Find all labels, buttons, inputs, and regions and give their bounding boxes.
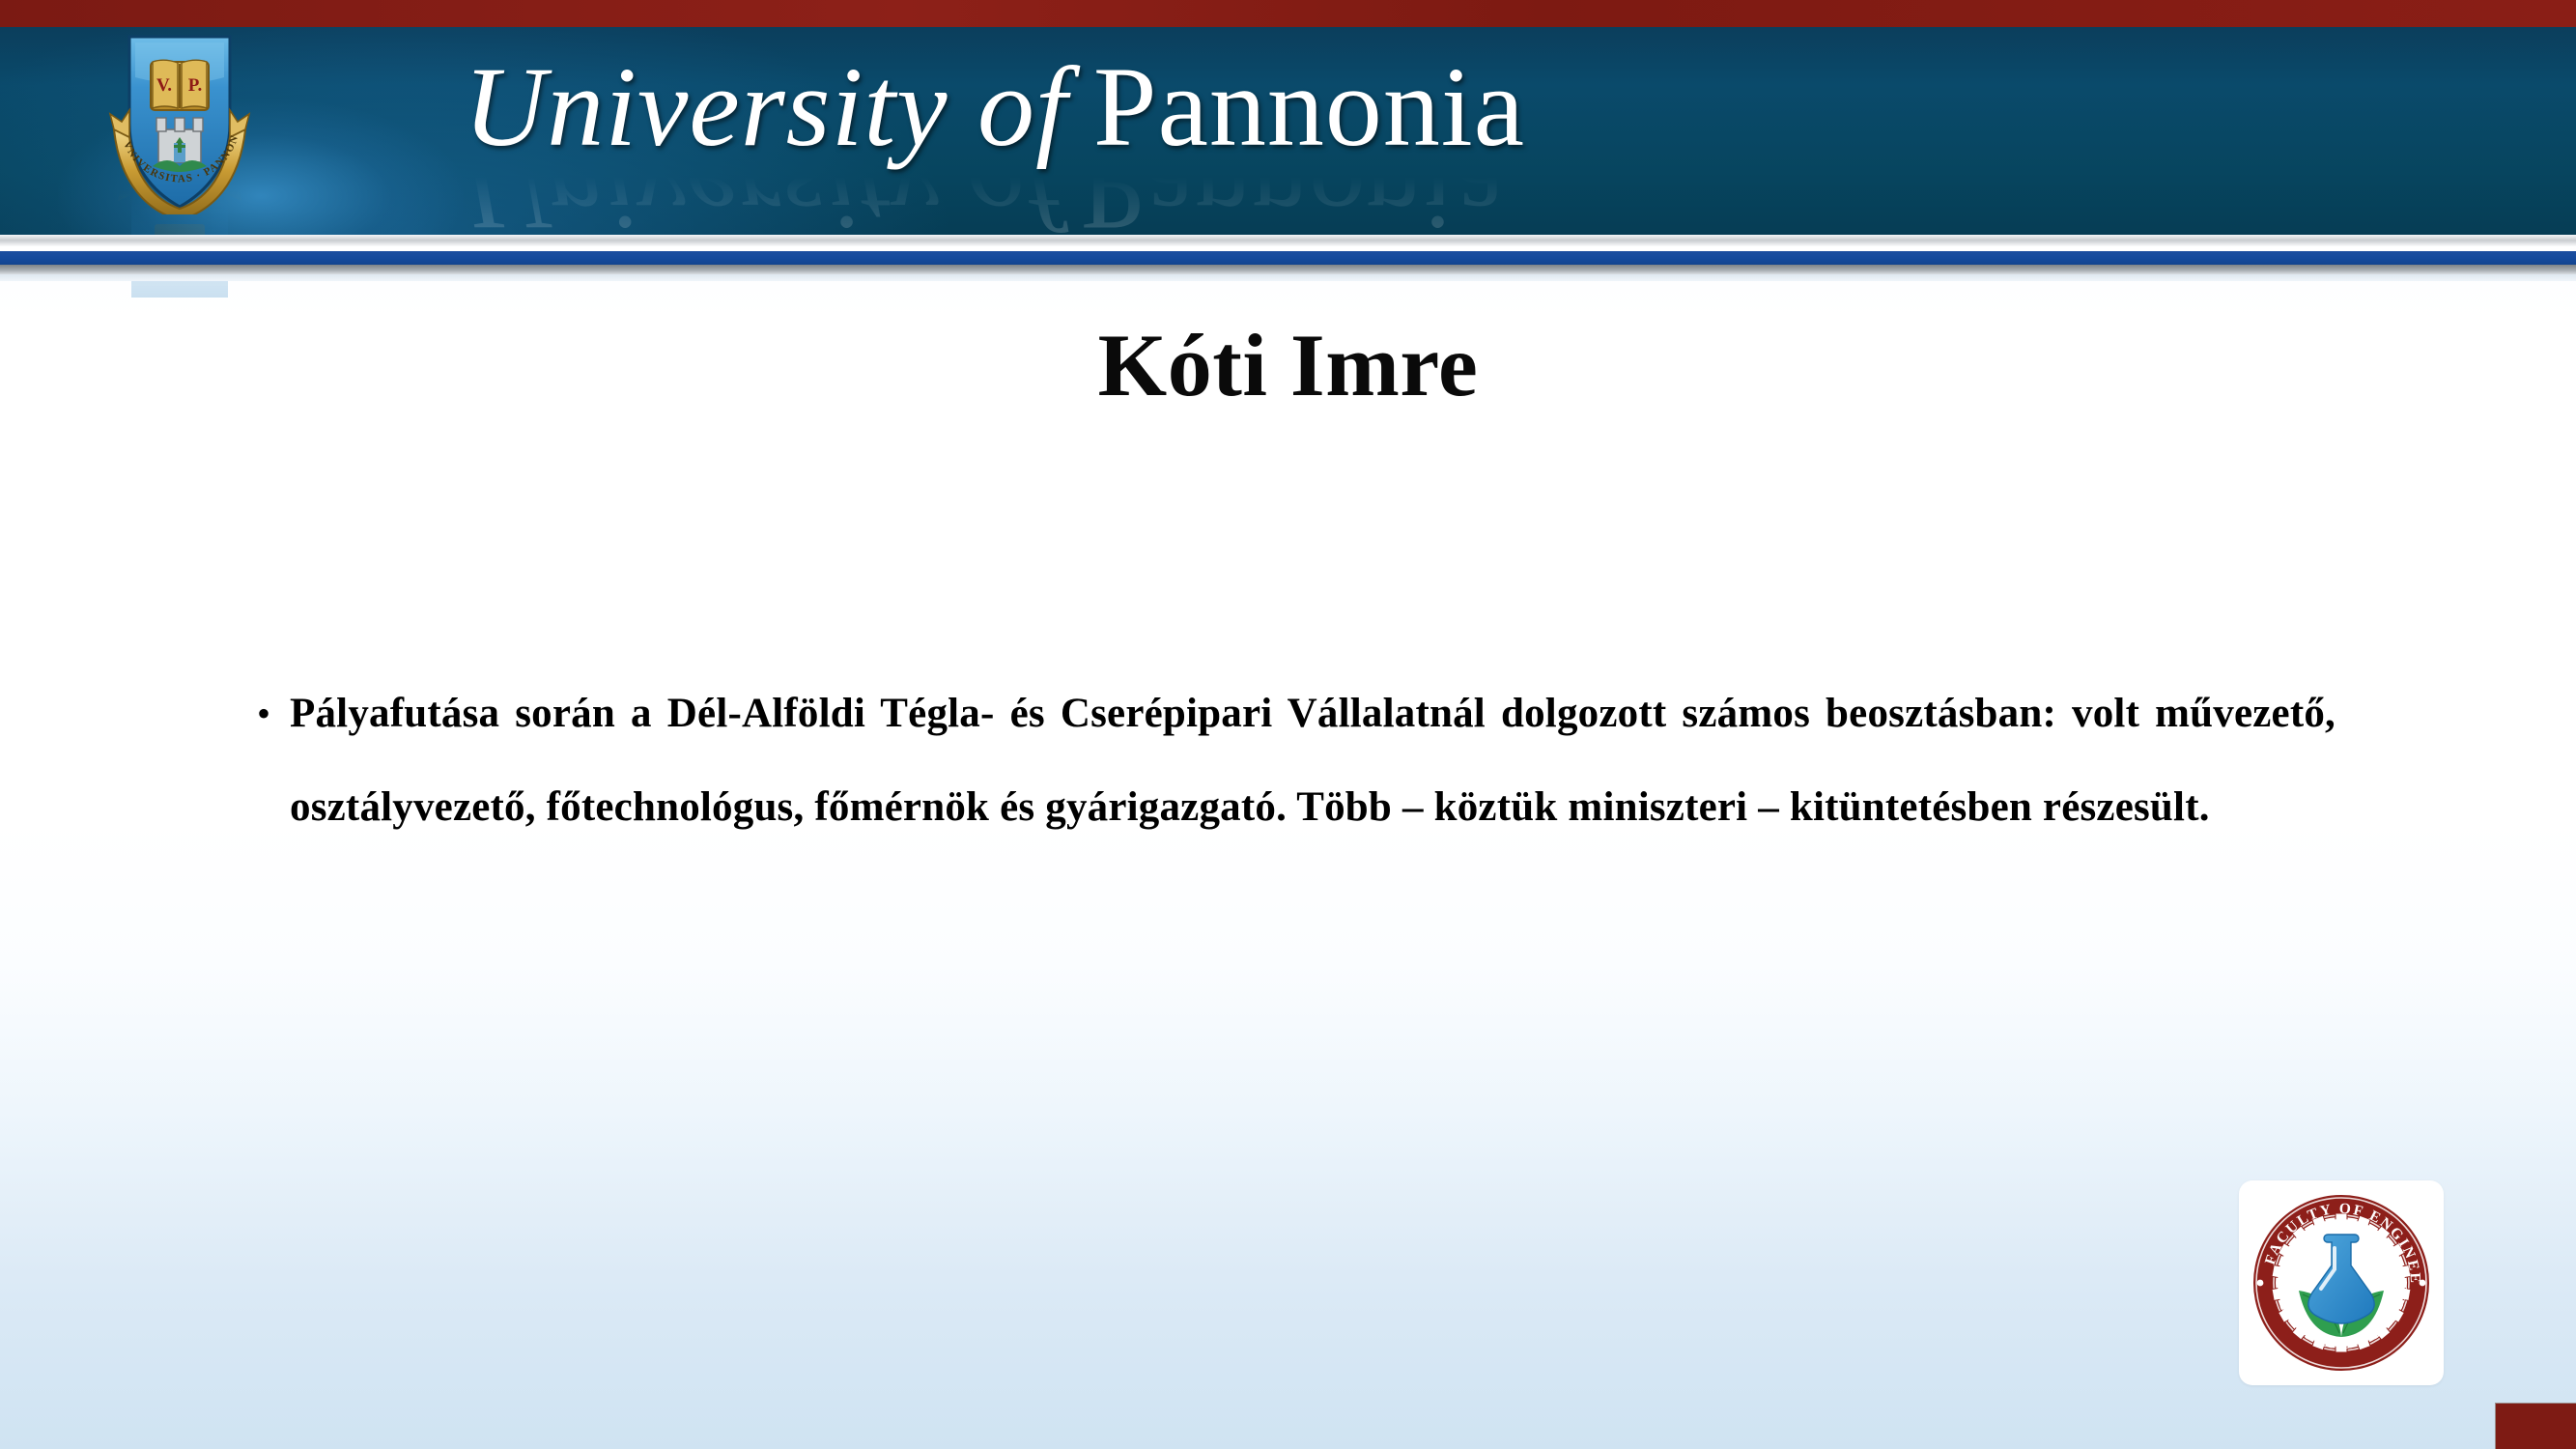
corner-accent-block	[2495, 1403, 2576, 1449]
header-divider	[0, 235, 2576, 281]
slide-body: • Pályafutása során a Dél-Alföldi Tégla-…	[249, 667, 2335, 854]
top-accent-bar	[0, 0, 2576, 27]
faculty-of-engineering-seal: FACULTY OF ENGINEERING UNIVERSITY OF PAN…	[2239, 1180, 2444, 1385]
bullet-marker: •	[249, 667, 290, 760]
svg-text:V.: V.	[156, 75, 172, 96]
university-wordmark: University of Pannonia	[464, 35, 2202, 180]
slide-title: Kóti Imre	[0, 319, 2576, 412]
faculty-seal-reflection	[2239, 1387, 2444, 1449]
svg-text:P.: P.	[188, 75, 203, 96]
divider-layer-silver-top	[0, 235, 2576, 246]
wordmark-italic-part: University of	[464, 50, 1068, 164]
divider-layer-blue	[0, 251, 2576, 265]
divider-layer-fade	[0, 274, 2576, 281]
bullet-item: • Pályafutása során a Dél-Alföldi Tégla-…	[249, 667, 2335, 854]
wordmark-roman-part: Pannonia	[1093, 50, 1525, 164]
divider-layer-gray	[0, 265, 2576, 274]
presentation-slide: V. P. VNIVERSITAS · P	[0, 0, 2576, 1449]
book-emblem: V. P.	[151, 60, 209, 110]
bullet-paragraph: Pályafutása során a Dél-Alföldi Tégla- é…	[290, 667, 2335, 854]
university-crest-logo: V. P. VNIVERSITAS · P	[93, 21, 267, 214]
